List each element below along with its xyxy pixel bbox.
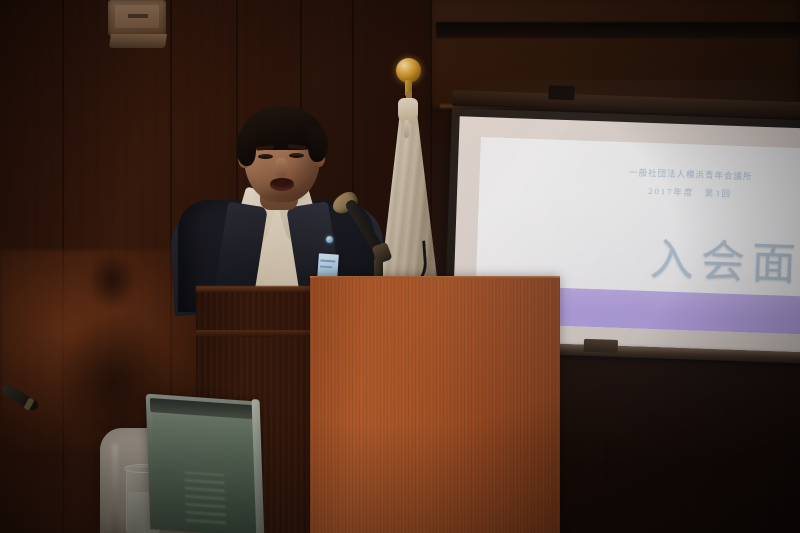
laptop-screen [152, 414, 256, 533]
chin-shadow [254, 188, 310, 204]
hair-side-left [236, 128, 256, 166]
eye-left [258, 154, 273, 159]
microphone-body [344, 198, 383, 251]
podium-ledge [196, 330, 316, 337]
podium-microphone [330, 186, 420, 286]
flag-tassel-cord [404, 120, 409, 138]
chair-cover-fold [112, 444, 118, 533]
ceiling-speaker-icon [108, 0, 171, 52]
ceiling-shadow-strip [436, 22, 800, 38]
speaker-label [128, 14, 148, 18]
laptop [146, 394, 269, 533]
hair-side-right [308, 126, 328, 162]
eye-right [289, 153, 304, 158]
podium-front-panel [310, 278, 560, 533]
laptop-screen-content [184, 471, 226, 524]
screen-mount-bracket [548, 85, 574, 100]
speaker-underside [109, 34, 167, 48]
slide-edition-line: 2017年度 第3回 [479, 179, 800, 206]
conference-photo: 一般社団法人横浜青年会議所 2017年度 第3回 入会面接 日時：2017年5月… [0, 0, 800, 533]
screen-bar-clip [584, 339, 618, 353]
podium-side-top-edge [196, 286, 314, 292]
speaker-face [108, 0, 166, 36]
nose [275, 158, 288, 178]
